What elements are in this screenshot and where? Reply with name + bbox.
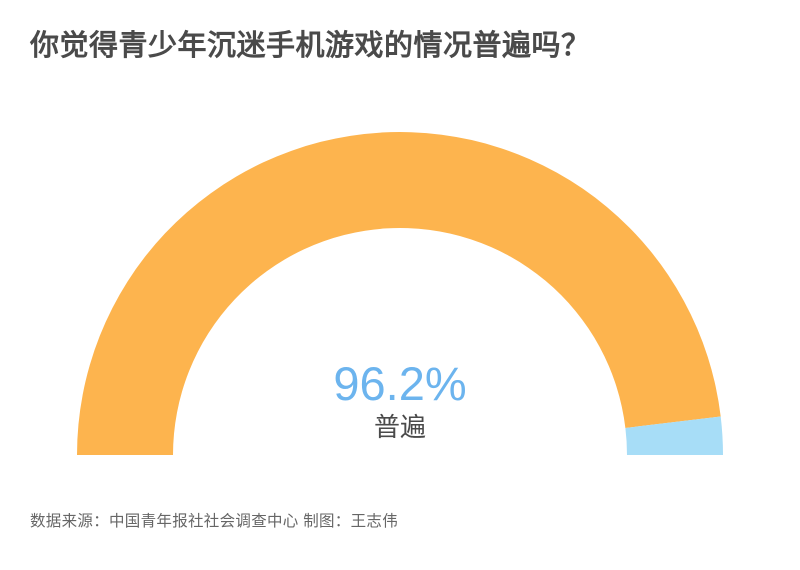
gauge-chart: 96.2% 普遍 bbox=[0, 0, 800, 500]
gauge-slices bbox=[77, 132, 723, 455]
gauge-slice-pubian[interactable] bbox=[77, 132, 721, 455]
chart-page: 你觉得青少年沉迷手机游戏的情况普遍吗？ 96.2% 普遍 数据来源：中国青年报社… bbox=[0, 0, 800, 570]
source-note: 数据来源：中国青年报社社会调查中心 制图：王志伟 bbox=[30, 509, 398, 531]
gauge-svg bbox=[0, 0, 800, 500]
